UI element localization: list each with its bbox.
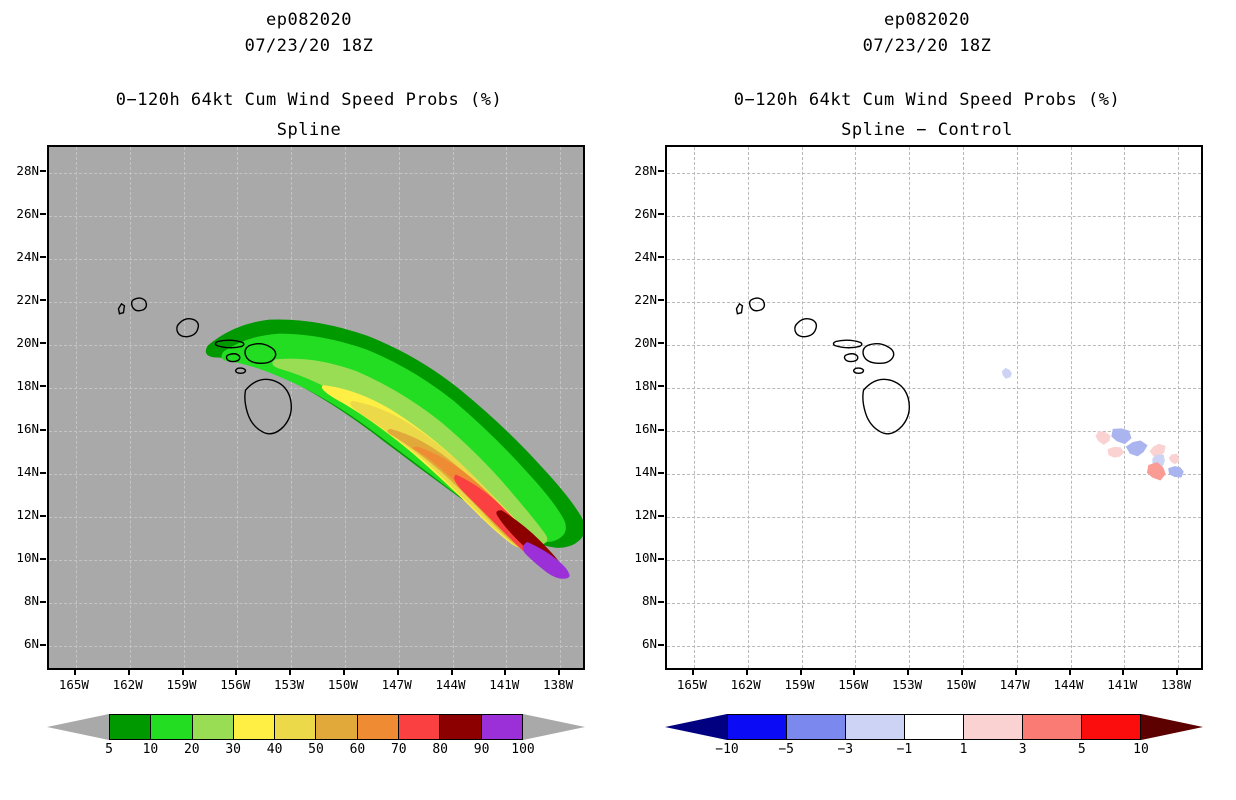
ytick-18N: 18N — [0, 378, 39, 393]
panel-right-title: 0−120h 64kt Cum Wind Speed Probs (%) — [618, 90, 1236, 110]
ytick-mark — [40, 429, 46, 431]
colorbar-cell-8 — [440, 714, 481, 740]
ytick-8N: 8N — [0, 593, 39, 608]
map-plot-spline[interactable] — [47, 145, 585, 670]
colorbar-tick-20: 20 — [184, 742, 200, 757]
panel-right-valid-time: 07/23/20 18Z — [618, 36, 1236, 56]
colorbar-tick-10: 10 — [1133, 742, 1149, 757]
ytick-24N: 24N — [613, 249, 657, 264]
xtick-165W: 165W — [669, 677, 715, 692]
island-hawaii — [863, 379, 909, 433]
ytick-14N: 14N — [613, 464, 657, 479]
ytick-24N: 24N — [0, 249, 39, 264]
xtick-138W: 138W — [1153, 677, 1199, 692]
colorbar-tick-minus3: −3 — [837, 742, 853, 757]
colorbar-bands-anomaly — [727, 714, 1141, 740]
anomaly-blob-pos-7 — [1169, 454, 1179, 465]
xtick-153W: 153W — [266, 677, 312, 692]
xtick-162W: 162W — [105, 677, 151, 692]
ytick-mark — [658, 385, 664, 387]
colorbar-cell-9 — [482, 714, 523, 740]
island-maui — [863, 344, 894, 364]
colorbar-cell-1 — [151, 714, 192, 740]
colorbar-tick-100: 100 — [511, 742, 534, 757]
anomaly-blob-neg-9 — [1168, 466, 1184, 477]
probability-colorbar[interactable]: 5102030405060708090100 — [47, 714, 585, 774]
ytick-mark — [658, 515, 664, 517]
ytick-18N: 18N — [613, 378, 657, 393]
ytick-10N: 10N — [613, 550, 657, 565]
ytick-16N: 16N — [613, 421, 657, 436]
ytick-22N: 22N — [613, 292, 657, 307]
colorbar-tick-minus5: −5 — [778, 742, 794, 757]
colorbar-tick-60: 60 — [350, 742, 366, 757]
xtick-144W: 144W — [428, 677, 474, 692]
map-plot-difference[interactable] — [665, 145, 1203, 670]
ytick-mark — [658, 601, 664, 603]
panel-right-storm-id: ep082020 — [618, 10, 1236, 30]
ytick-mark — [40, 472, 46, 474]
anomaly-blob-pos-1 — [1095, 431, 1110, 445]
xtick-156W: 156W — [830, 677, 876, 692]
ytick-mark — [658, 644, 664, 646]
colorbar-ticklabels-probability: 5102030405060708090100 — [109, 742, 523, 764]
island-oahu — [795, 319, 817, 337]
xtick-165W: 165W — [51, 677, 97, 692]
colorbar-tick-80: 80 — [432, 742, 448, 757]
ytick-14N: 14N — [0, 464, 39, 479]
island-lanai — [844, 354, 857, 362]
xtick-138W: 138W — [535, 677, 581, 692]
colorbar-cell-0 — [109, 714, 151, 740]
panel-right-subtitle: Spline − Control — [618, 120, 1236, 140]
colorbar-ticklabels-anomaly: −10−5−3−113510 — [727, 742, 1141, 764]
colorbar-tick-5: 5 — [105, 742, 113, 757]
ytick-mark — [658, 213, 664, 215]
ytick-mark — [40, 515, 46, 517]
colorbar-cell-2 — [846, 714, 905, 740]
hawaiian-islands-outline-right — [736, 298, 909, 434]
ytick-mark — [40, 601, 46, 603]
xtick-150W: 150W — [938, 677, 984, 692]
anomaly-blob-pos-3 — [1108, 447, 1125, 458]
colorbar-cell-5 — [1023, 714, 1082, 740]
ytick-8N: 8N — [613, 593, 657, 608]
anomaly-blob-neg-0 — [1002, 368, 1012, 379]
panel-left-valid-time: 07/23/20 18Z — [0, 36, 618, 56]
colorbar-left-cap-probability — [47, 714, 109, 740]
colorbar-right-cap-probability — [523, 714, 585, 740]
ytick-mark — [40, 170, 46, 172]
anomaly-blob-neg-2 — [1111, 428, 1131, 444]
colorbar-tick-40: 40 — [267, 742, 283, 757]
ytick-12N: 12N — [0, 507, 39, 522]
ytick-mark — [40, 213, 46, 215]
colorbar-cell-2 — [193, 714, 234, 740]
xtick-147W: 147W — [374, 677, 420, 692]
colorbar-cell-4 — [964, 714, 1023, 740]
colorbar-tick-90: 90 — [474, 742, 490, 757]
ytick-mark — [658, 170, 664, 172]
ytick-26N: 26N — [0, 206, 39, 221]
ytick-28N: 28N — [613, 163, 657, 178]
ytick-10N: 10N — [0, 550, 39, 565]
ytick-mark — [40, 385, 46, 387]
island-molokai — [833, 340, 861, 348]
ytick-12N: 12N — [613, 507, 657, 522]
colorbar-cell-0 — [727, 714, 787, 740]
ytick-26N: 26N — [613, 206, 657, 221]
xtick-159W: 159W — [159, 677, 205, 692]
ytick-28N: 28N — [0, 163, 39, 178]
ytick-20N: 20N — [0, 335, 39, 350]
colorbar-cell-6 — [1082, 714, 1141, 740]
ytick-16N: 16N — [0, 421, 39, 436]
xtick-156W: 156W — [212, 677, 258, 692]
colorbar-cell-4 — [275, 714, 316, 740]
island-niihau — [118, 304, 124, 314]
xtick-144W: 144W — [1046, 677, 1092, 692]
colorbar-tick-10: 10 — [143, 742, 159, 757]
panel-spline-minus-control: ep082020 07/23/20 18Z 0−120h 64kt Cum Wi… — [618, 0, 1236, 800]
colorbar-tick-minus10: −10 — [715, 742, 738, 757]
xtick-162W: 162W — [723, 677, 769, 692]
colorbar-tick-minus1: −1 — [897, 742, 913, 757]
colorbar-tick-5: 5 — [1078, 742, 1086, 757]
contour-plume-left — [49, 147, 583, 668]
ytick-mark — [658, 256, 664, 258]
ytick-20N: 20N — [613, 335, 657, 350]
island-kahoolawe — [854, 368, 864, 373]
ytick-mark — [40, 644, 46, 646]
colorbar-tick-3: 3 — [1019, 742, 1027, 757]
xtick-150W: 150W — [320, 677, 366, 692]
anomaly-blobs-right — [667, 147, 1201, 668]
ytick-mark — [658, 429, 664, 431]
panel-left-subtitle: Spline — [0, 120, 618, 140]
colorbar-cell-3 — [234, 714, 275, 740]
ytick-mark — [658, 299, 664, 301]
ytick-mark — [40, 558, 46, 560]
panel-left-title: 0−120h 64kt Cum Wind Speed Probs (%) — [0, 90, 618, 110]
colorbar-tick-1: 1 — [960, 742, 968, 757]
xtick-159W: 159W — [777, 677, 823, 692]
colorbar-cell-7 — [399, 714, 440, 740]
colorbar-right-cap-anomaly — [1141, 714, 1203, 740]
ytick-mark — [658, 342, 664, 344]
ytick-mark — [658, 558, 664, 560]
colorbar-tick-70: 70 — [391, 742, 407, 757]
island-oahu — [177, 319, 199, 337]
colorbar-cell-3 — [905, 714, 964, 740]
island-niihau — [736, 304, 742, 314]
island-kauai — [750, 298, 765, 311]
ytick-mark — [40, 342, 46, 344]
colorbar-bands-probability — [109, 714, 523, 740]
anomaly-colorbar[interactable]: −10−5−3−113510 — [665, 714, 1203, 774]
xtick-147W: 147W — [992, 677, 1038, 692]
colorbar-tick-50: 50 — [308, 742, 324, 757]
probability-contours — [206, 319, 583, 578]
panel-left-storm-id: ep082020 — [0, 10, 618, 30]
island-hawaii — [245, 379, 291, 433]
colorbar-cell-6 — [358, 714, 399, 740]
ytick-mark — [40, 256, 46, 258]
colorbar-cell-1 — [787, 714, 846, 740]
ytick-22N: 22N — [0, 292, 39, 307]
colorbar-left-cap-anomaly — [665, 714, 727, 740]
xtick-141W: 141W — [481, 677, 527, 692]
colorbar-cell-5 — [316, 714, 357, 740]
xtick-141W: 141W — [1099, 677, 1145, 692]
ytick-6N: 6N — [613, 636, 657, 651]
difference-anomalies — [1002, 368, 1184, 481]
colorbar-tick-30: 30 — [225, 742, 241, 757]
ytick-6N: 6N — [0, 636, 39, 651]
panel-spline: ep082020 07/23/20 18Z 0−120h 64kt Cum Wi… — [0, 0, 618, 800]
anomaly-blob-neg-4 — [1126, 440, 1148, 456]
xtick-153W: 153W — [884, 677, 930, 692]
ytick-mark — [40, 299, 46, 301]
ytick-mark — [658, 472, 664, 474]
island-kahoolawe — [236, 368, 246, 373]
island-kauai — [132, 298, 147, 311]
